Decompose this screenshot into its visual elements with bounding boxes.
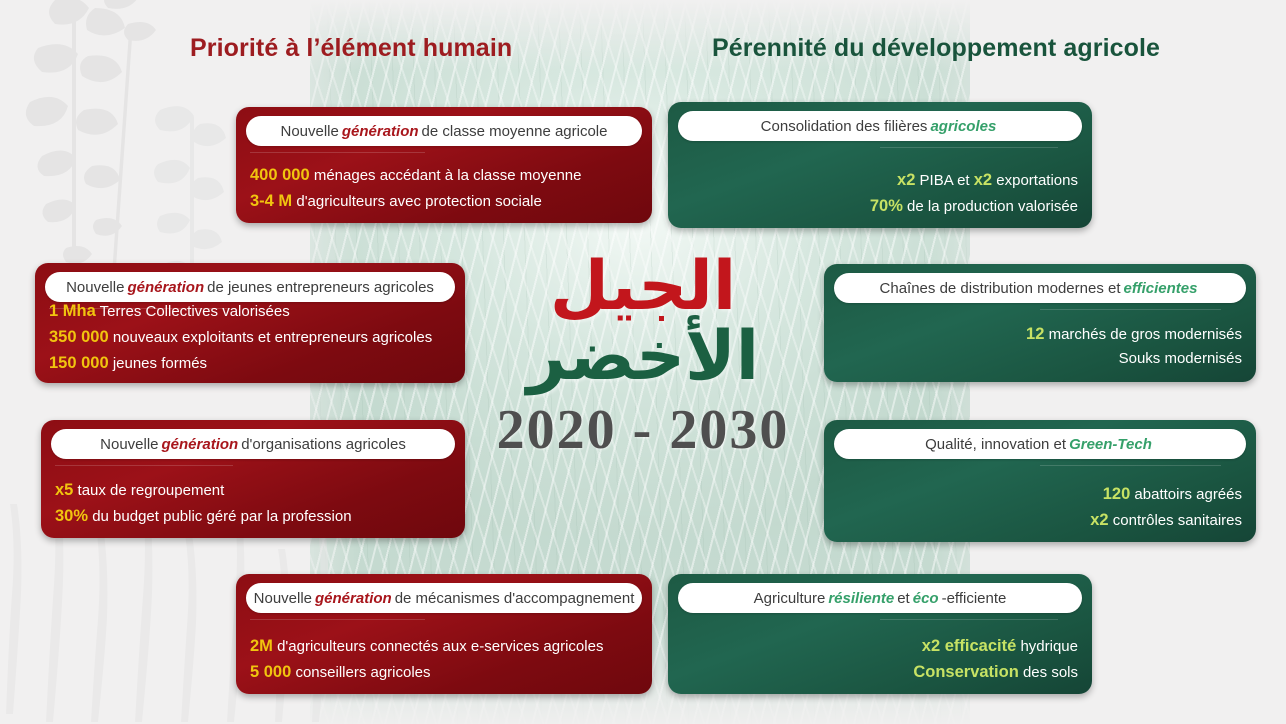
line-text: taux de regroupement: [73, 482, 224, 499]
hdr-em: résiliente: [825, 590, 897, 607]
hdr-pre: Nouvelle: [100, 436, 158, 453]
line-value: x2: [897, 171, 915, 189]
card-line: 30% du budget public géré par la profess…: [55, 503, 451, 529]
card-jeunes-entrepreneurs[interactable]: Nouvelle génération de jeunes entreprene…: [35, 263, 465, 383]
card-distribution-header: Chaînes de distribution modernes et effi…: [834, 273, 1246, 303]
line-value: 120: [1103, 485, 1131, 503]
card-qualite-body: 120 abattoirs agréésx2 contrôles sanitai…: [824, 481, 1256, 533]
card-hairline: [1040, 309, 1221, 310]
line-value: x2: [974, 171, 992, 189]
line-text: conseillers agricoles: [291, 664, 430, 681]
card-line: 5 000 conseillers agricoles: [250, 659, 638, 685]
hdr-pre: Qualité, innovation et: [925, 436, 1066, 453]
line-value: x2: [1090, 511, 1108, 529]
line-text: du budget public géré par la profession: [88, 508, 352, 525]
card-organisations-body: x5 taux de regroupement30% du budget pub…: [41, 477, 465, 529]
hdr-pre: Chaînes de distribution modernes et: [880, 280, 1121, 297]
line-value: 1 Mha: [49, 302, 96, 320]
line-text: contrôles sanitaires: [1109, 512, 1242, 529]
line-text: ménages accédant à la classe moyenne: [310, 167, 582, 184]
card-mecanismes-body: 2M d'agriculteurs connectés aux e-servic…: [236, 633, 652, 685]
card-hairline: [250, 152, 425, 153]
line-value: x2 efficacité: [922, 637, 1016, 655]
hdr-em: génération: [159, 436, 242, 453]
hdr-post: et: [897, 590, 910, 607]
card-line: 1 Mha Terres Collectives valorisées: [49, 298, 451, 324]
hdr-em: efficientes: [1121, 280, 1201, 297]
line-value: 150 000: [49, 354, 109, 372]
card-line: 70% de la production valorisée: [682, 193, 1078, 219]
line-value: Conservation: [913, 663, 1018, 681]
line-text: jeunes formés: [109, 355, 207, 372]
line-text: d'agriculteurs avec protection sociale: [292, 193, 542, 210]
line-value: 70%: [870, 197, 903, 215]
card-line: x2 PIBA et x2 exportations: [682, 167, 1078, 193]
card-line: x2 contrôles sanitaires: [838, 507, 1242, 533]
line-value: 350 000: [49, 328, 109, 346]
card-qualite[interactable]: Qualité, innovation et Green-Tech120 aba…: [824, 420, 1256, 542]
hdr-em: génération: [339, 123, 422, 140]
card-line: x2 efficacité hydrique: [682, 633, 1078, 659]
card-line: 2M d'agriculteurs connectés aux e-servic…: [250, 633, 638, 659]
card-line: 350 000 nouveaux exploitants et entrepre…: [49, 324, 451, 350]
card-line: x5 taux de regroupement: [55, 477, 451, 503]
card-resiliente-body: x2 efficacité hydriqueConservation des s…: [668, 633, 1092, 685]
hdr-post2: -efficiente: [942, 590, 1007, 607]
line-value: x5: [55, 481, 73, 499]
card-mecanismes[interactable]: Nouvelle génération de mécanismes d'acco…: [236, 574, 652, 694]
column-title-left: Priorité à l’élément humain: [190, 34, 512, 63]
hdr-pre: Nouvelle: [280, 123, 338, 140]
card-hairline: [880, 619, 1058, 620]
card-filieres[interactable]: Consolidation des filières agricolesx2 P…: [668, 102, 1092, 228]
hdr-post: d'organisations agricoles: [241, 436, 406, 453]
infographic-canvas: Priorité à l’élément humain Pérennité du…: [0, 0, 1286, 724]
card-filieres-body: x2 PIBA et x2 exportations70% de la prod…: [668, 167, 1092, 219]
card-line: 3-4 M d'agriculteurs avec protection soc…: [250, 188, 638, 214]
card-line: 12 marchés de gros modernisés: [838, 321, 1242, 347]
card-line: 400 000 ménages accédant à la classe moy…: [250, 162, 638, 188]
line-value: 12: [1026, 325, 1044, 343]
line-text: nouveaux exploitants et entrepreneurs ag…: [109, 329, 433, 346]
line-value: 5 000: [250, 663, 291, 681]
card-jeunes-entrepreneurs-body: 1 Mha Terres Collectives valorisées350 0…: [35, 298, 465, 376]
card-organisations-header: Nouvelle génération d'organisations agri…: [51, 429, 455, 459]
hdr-pre: Nouvelle: [254, 590, 312, 607]
hdr-em: génération: [124, 279, 207, 296]
hdr-pre: Nouvelle: [66, 279, 124, 296]
card-line: 120 abattoirs agréés: [838, 481, 1242, 507]
hdr-pre: Agriculture: [754, 590, 826, 607]
line-text: Souks modernisés: [1119, 350, 1242, 367]
card-distribution[interactable]: Chaînes de distribution modernes et effi…: [824, 264, 1256, 382]
card-hairline: [250, 619, 425, 620]
card-mecanismes-header: Nouvelle génération de mécanismes d'acco…: [246, 583, 642, 613]
card-qualite-header: Qualité, innovation et Green-Tech: [834, 429, 1246, 459]
card-classe-moyenne[interactable]: Nouvelle génération de classe moyenne ag…: [236, 107, 652, 223]
line-value: 3-4 M: [250, 192, 292, 210]
line-text: marchés de gros modernisés: [1044, 326, 1242, 343]
card-line: 150 000 jeunes formés: [49, 350, 451, 376]
line-text: Terres Collectives valorisées: [96, 303, 290, 320]
line-text: exportations: [992, 172, 1078, 189]
hdr-em: Green-Tech: [1066, 436, 1155, 453]
hdr-post: de classe moyenne agricole: [422, 123, 608, 140]
line-text: abattoirs agréés: [1130, 486, 1242, 503]
card-hairline: [880, 147, 1058, 148]
column-title-right: Pérennité du développement agricole: [712, 34, 1160, 63]
card-filieres-header: Consolidation des filières agricoles: [678, 111, 1082, 141]
card-line: Conservation des sols: [682, 659, 1078, 685]
line-value: 30%: [55, 507, 88, 525]
card-hairline: [55, 465, 233, 466]
hdr-pre: Consolidation des filières: [761, 118, 928, 135]
card-distribution-body: 12 marchés de gros modernisésSouks moder…: [824, 321, 1256, 371]
line-text: d'agriculteurs connectés aux e-services …: [273, 638, 604, 655]
line-text: des sols: [1019, 664, 1078, 681]
line-value: 2M: [250, 637, 273, 655]
card-resiliente-header: Agriculture résiliente et éco-efficiente: [678, 583, 1082, 613]
hdr-em: génération: [312, 590, 395, 607]
card-classe-moyenne-body: 400 000 ménages accédant à la classe moy…: [236, 162, 652, 214]
card-classe-moyenne-header: Nouvelle génération de classe moyenne ag…: [246, 116, 642, 146]
card-hairline: [1040, 465, 1221, 466]
line-value: 400 000: [250, 166, 310, 184]
hdr-post: de mécanismes d'accompagnement: [395, 590, 635, 607]
card-organisations[interactable]: Nouvelle génération d'organisations agri…: [41, 420, 465, 538]
hdr-post: de jeunes entrepreneurs agricoles: [207, 279, 434, 296]
line-text: PIBA et: [915, 172, 973, 189]
hdr-em: agricoles: [927, 118, 999, 135]
line-text: hydrique: [1016, 638, 1078, 655]
card-resiliente[interactable]: Agriculture résiliente et éco-efficiente…: [668, 574, 1092, 694]
hdr-em2: éco: [910, 590, 942, 607]
line-text: de la production valorisée: [903, 198, 1078, 215]
card-line: Souks modernisés: [838, 347, 1242, 371]
